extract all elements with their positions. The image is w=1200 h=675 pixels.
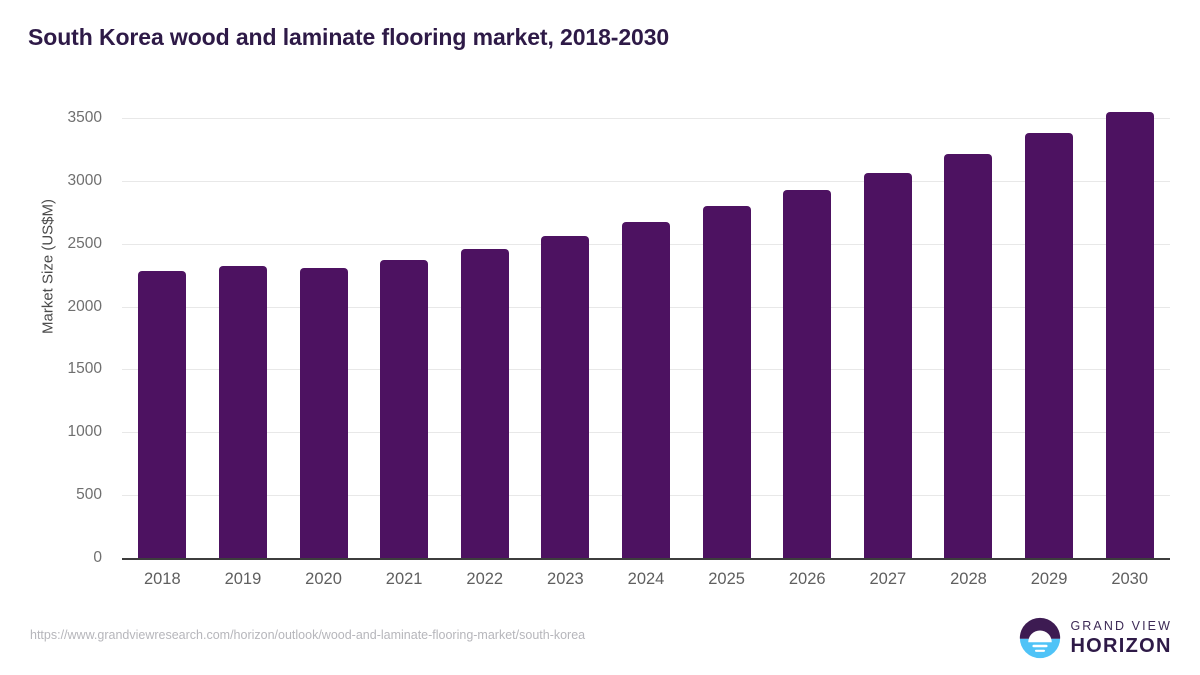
chart-page: South Korea wood and laminate flooring m…: [0, 0, 1200, 675]
x-axis-tick-label: 2022: [440, 570, 530, 589]
y-axis-tick-label: 2000: [32, 298, 102, 316]
bar-2025[interactable]: [703, 206, 751, 558]
x-axis-tick-label: 2030: [1085, 570, 1175, 589]
bar-2021[interactable]: [380, 260, 428, 558]
y-axis-tick-label: 0: [32, 549, 102, 567]
bar-2019[interactable]: [219, 266, 267, 558]
gridline: [122, 118, 1170, 119]
x-axis-tick-label: 2019: [198, 570, 288, 589]
bar-2030[interactable]: [1106, 112, 1154, 558]
brand-logo[interactable]: GRAND VIEW HORIZON: [1019, 617, 1172, 659]
bar-2020[interactable]: [300, 268, 348, 558]
chart-plot-area: Market Size (US$M) 050010001500200025003…: [0, 0, 1200, 675]
y-axis-tick-label: 1000: [32, 423, 102, 441]
source-url[interactable]: https://www.grandviewresearch.com/horizo…: [30, 628, 585, 642]
y-axis-tick-label: 2500: [32, 235, 102, 253]
bar-2028[interactable]: [944, 154, 992, 558]
x-axis-tick-label: 2023: [520, 570, 610, 589]
bar-2018[interactable]: [138, 271, 186, 558]
logo-line-grand-view: GRAND VIEW: [1070, 620, 1172, 633]
logo-text: GRAND VIEW HORIZON: [1070, 620, 1172, 656]
x-axis-tick-label: 2026: [762, 570, 852, 589]
y-axis-tick-labels: 0500100015002000250030003500: [32, 0, 102, 675]
x-axis-tick-label: 2029: [1004, 570, 1094, 589]
bar-2022[interactable]: [461, 249, 509, 558]
bar-2026[interactable]: [783, 190, 831, 558]
x-axis-tick-label: 2021: [359, 570, 449, 589]
y-axis-tick-label: 3500: [32, 109, 102, 127]
x-axis-line: [122, 558, 1170, 560]
x-axis-tick-label: 2027: [843, 570, 933, 589]
x-axis-tick-label: 2028: [923, 570, 1013, 589]
logo-line-horizon: HORIZON: [1070, 636, 1172, 656]
bar-2023[interactable]: [541, 236, 589, 558]
x-axis-tick-label: 2024: [601, 570, 691, 589]
y-axis-tick-label: 1500: [32, 360, 102, 378]
grand-view-horizon-logo-icon: [1019, 617, 1061, 659]
bar-2029[interactable]: [1025, 133, 1073, 558]
y-axis-tick-label: 500: [32, 486, 102, 504]
gridline: [122, 181, 1170, 182]
x-axis-tick-label: 2025: [682, 570, 772, 589]
x-axis-tick-label: 2020: [279, 570, 369, 589]
bar-2027[interactable]: [864, 173, 912, 558]
bar-2024[interactable]: [622, 222, 670, 558]
y-axis-tick-label: 3000: [32, 172, 102, 190]
x-axis-tick-label: 2018: [117, 570, 207, 589]
